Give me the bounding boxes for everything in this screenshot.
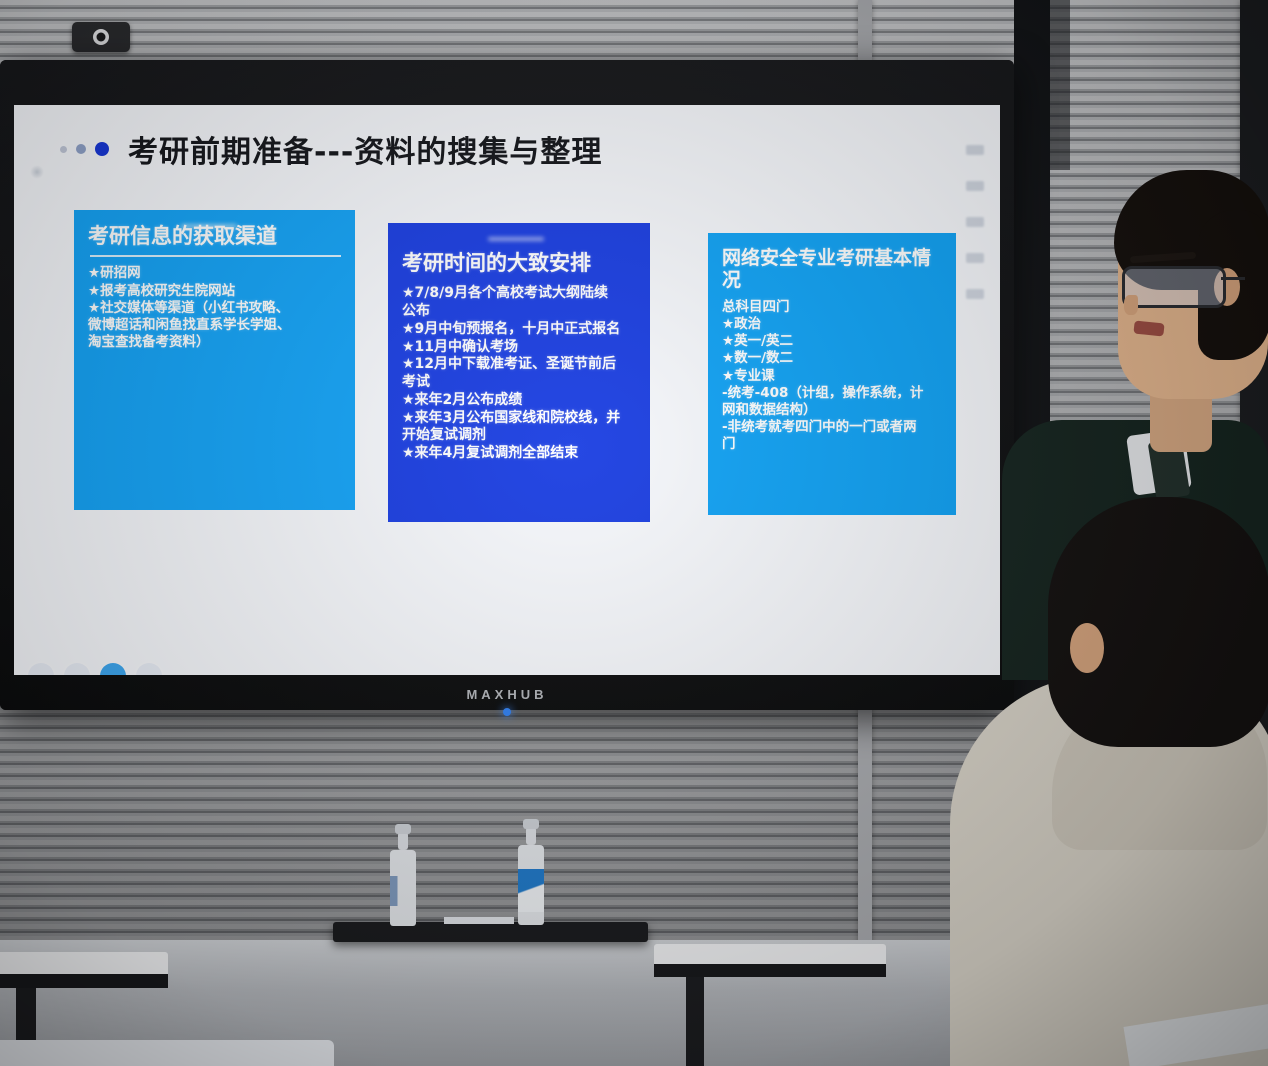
card-divider [90, 255, 341, 257]
card-line: 网和数据结构） [722, 402, 944, 419]
desk-leg [686, 977, 704, 1066]
slide-title-row: 考研前期准备---资料的搜集与整理 [60, 127, 602, 171]
card-body: ★7/8/9月各个高校考试大纲陆续 公布 ★9月中旬预报名，十月中正式报名 ★1… [402, 285, 638, 463]
card-line: ★9月中旬预报名，十月中正式报名 [402, 321, 638, 339]
card-line: ★英一/英二 [722, 333, 944, 350]
spray-bottle-left [390, 850, 416, 926]
card-line: ★7/8/9月各个高校考试大纲陆续 [402, 285, 638, 303]
card-line: 淘宝查找备考资料） [88, 334, 343, 351]
card-line: ★来年4月复试调剂全部结束 [402, 445, 638, 463]
spray-bottle-right [518, 845, 544, 925]
bottle-cap [523, 819, 539, 829]
classroom-scene: 考研前期准备---资料的搜集与整理 考研信息的获取渠道 ★研招网 ★报考高校研究… [0, 0, 1268, 1066]
card-line: ★来年2月公布成绩 [402, 392, 638, 410]
card-highlight-glare [181, 224, 237, 228]
maxhub-display-panel[interactable]: 考研前期准备---资料的搜集与整理 考研信息的获取渠道 ★研招网 ★报考高校研究… [0, 60, 1014, 710]
webcam-lens-icon [93, 29, 109, 45]
card-line: ★数一/数二 [722, 350, 944, 367]
panel-screen[interactable]: 考研前期准备---资料的搜集与整理 考研信息的获取渠道 ★研招网 ★报考高校研究… [14, 105, 1000, 675]
bottle-neck [526, 827, 536, 845]
card-line: 门 [722, 436, 944, 453]
webcam-icon [72, 22, 130, 52]
rail-icon-4[interactable] [966, 253, 984, 263]
card-line: 微博超话和闲鱼找直系学长学姐、 [88, 317, 343, 334]
card-line: ★社交媒体等渠道（小红书攻略、 [88, 300, 343, 317]
card-line: ★政治 [722, 316, 944, 333]
pen-tool-icon[interactable] [28, 663, 54, 675]
rail-icon-2[interactable] [966, 181, 984, 191]
card-body: 总科目四门 ★政治 ★英一/英二 ★数一/数二 ★专业课 -统考-408（计组，… [722, 299, 944, 453]
desk-edge [0, 974, 168, 988]
presenter-nose [1124, 295, 1138, 315]
slide-card-cybersecurity-exam[interactable]: 网络安全专业考研基本情况 总科目四门 ★政治 ★英一/英二 ★数一/数二 ★专业… [708, 233, 956, 515]
shape-tool-icon[interactable] [136, 663, 162, 675]
rail-icon-5[interactable] [966, 289, 984, 299]
student-ear [1070, 623, 1104, 673]
card-line: 公布 [402, 303, 638, 321]
card-highlight-glare [488, 237, 544, 241]
title-dot-medium-icon [76, 144, 86, 154]
left-corner-icon[interactable] [30, 165, 44, 179]
bottle-label [390, 876, 416, 906]
display-brand-logo: MAXHUB [0, 687, 1014, 702]
title-dot-small-icon [60, 146, 67, 153]
wall-dark-column-secondary [1050, 0, 1070, 170]
equipment-shelf [333, 922, 648, 942]
desk-right [654, 944, 886, 1066]
power-led-indicator [503, 708, 511, 716]
card-line: ★11月中确认考场 [402, 339, 638, 357]
card-line: 开始复试调剂 [402, 427, 638, 445]
card-line: -非统考就考四门中的一门或者两 [722, 419, 944, 436]
slide-card-info-channels[interactable]: 考研信息的获取渠道 ★研招网 ★报考高校研究生院网站 ★社交媒体等渠道（小红书攻… [74, 210, 355, 510]
student-head [1048, 497, 1268, 747]
card-title: 考研时间的大致安排 [402, 251, 638, 275]
slide-right-rail[interactable] [962, 145, 988, 299]
white-paper-on-shelf [444, 917, 514, 924]
slide-title: 考研前期准备---资料的搜集与整理 [128, 127, 602, 171]
desk-edge [654, 964, 886, 977]
card-line: ★专业课 [722, 368, 944, 385]
eraser-tool-icon[interactable] [64, 663, 90, 675]
card-line: ★研招网 [88, 265, 343, 282]
bottle-neck [398, 832, 408, 850]
pointer-tool-icon[interactable] [100, 663, 126, 675]
slide-card-timeline[interactable]: 考研时间的大致安排 ★7/8/9月各个高校考试大纲陆续 公布 ★9月中旬预报名，… [388, 223, 650, 522]
card-title: 网络安全专业考研基本情况 [722, 247, 944, 291]
bottle-label [518, 869, 544, 912]
slide-bottom-toolbar[interactable] [28, 663, 162, 675]
card-line: 总科目四门 [722, 299, 944, 316]
presentation-slide[interactable]: 考研前期准备---资料的搜集与整理 考研信息的获取渠道 ★研招网 ★报考高校研究… [14, 105, 1000, 675]
rail-icon-1[interactable] [966, 145, 984, 155]
card-line: -统考-408（计组，操作系统，计 [722, 385, 944, 402]
card-line: 考试 [402, 374, 638, 392]
card-line: ★来年3月公布国家线和院校线，并 [402, 410, 638, 428]
title-dot-large-icon [95, 142, 109, 156]
desk-front [0, 1040, 334, 1066]
rail-icon-3[interactable] [966, 217, 984, 227]
bottle-cap [395, 824, 411, 834]
seated-student [940, 495, 1268, 1066]
card-line: ★报考高校研究生院网站 [88, 283, 343, 300]
card-body: ★研招网 ★报考高校研究生院网站 ★社交媒体等渠道（小红书攻略、 微博超话和闲鱼… [88, 265, 343, 351]
card-line: ★12月中下载准考证、圣诞节前后 [402, 356, 638, 374]
